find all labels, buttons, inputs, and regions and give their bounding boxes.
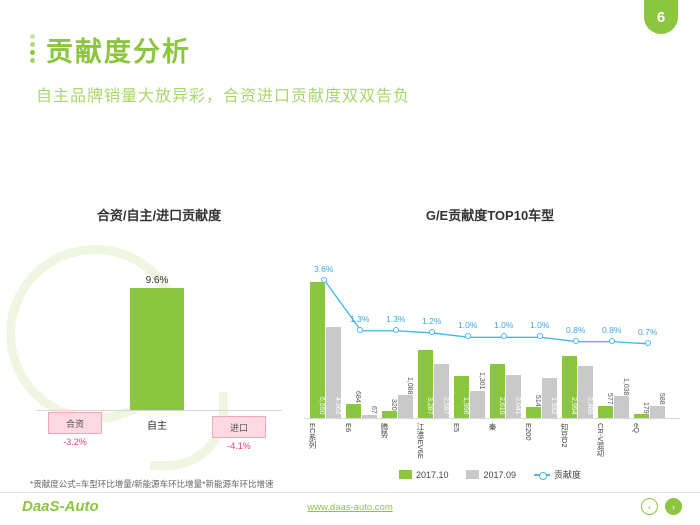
right-chart-title: G/E贡献度TOP10车型 [300,205,680,224]
category-label-5: 秦 [494,423,508,431]
line-label-5: 1.0% [494,320,513,330]
line-label-3: 1.2% [422,316,441,326]
bar-zizhu [130,288,184,410]
legend-label-contribution: 贡献度 [554,468,581,481]
bar-label-2017-09-4: 1,301 [470,372,485,390]
category-label-7: 知豆D2 [566,423,580,448]
bar-label-2017-09-0: 4,362 [326,397,341,415]
bar-label-2017-10-4: 1,996 [454,397,469,415]
bar-label-2017-09-6: 1,932 [542,397,557,415]
legend-swatch-green [399,470,412,479]
bar-label-2017-10-6: 514 [526,395,541,407]
legend-item-2017-10: 2017.10 [399,470,449,480]
bar-hezi-box: 合资 [48,412,102,434]
bar-2017-10-3: 3,287 [418,350,433,418]
bar-label-2017-10-2: 320 [382,399,397,411]
bar-2017-10-9: 179 [634,414,649,418]
footer-divider [0,492,700,493]
bar-2017-09-1: 67 [362,415,377,418]
bar-column-jinkou: 进口 -4.1% [212,416,266,451]
bar-column-zizhu: 9.6% [130,275,184,410]
bar-2017-10-8: 577 [598,406,613,418]
page-number-badge: 6 [644,0,678,34]
line-point-2 [393,327,399,333]
line-label-7: 0.8% [566,325,585,335]
bar-label-2017-09-1: 67 [362,406,377,414]
bar-2017-09-4: 1,301 [470,391,485,418]
chart-legend: 2017.10 2017.09 贡献度 [300,468,680,481]
bar-label-2017-09-5: 2,041 [506,397,521,415]
bar-zizhu-value: 9.6% [130,275,184,286]
line-point-7 [573,338,579,344]
page-subtitle: 自主品牌销量大放异彩，合资进口贡献度双双告负 [36,82,410,106]
page-title: 贡献度分析 [46,30,191,69]
bar-2017-10-4: 1,996 [454,376,469,418]
next-slide-button[interactable]: › [665,498,682,515]
bar-jinkou-box: 进口 [212,416,266,438]
line-point-3 [429,329,435,335]
bar-label-2017-10-5: 2,610 [490,397,505,415]
category-label-8: CR-V混动 [602,423,616,456]
bar-label-2017-09-2: 1,088 [398,377,413,395]
left-axis-line [36,410,282,411]
bar-2017-09-0: 4,362 [326,327,341,418]
bar-label-2017-10-8: 577 [598,393,613,405]
bar-label-2017-10-3: 3,287 [418,397,433,415]
bar-label-2017-09-9: 588 [650,393,665,405]
category-label-3: 江淮iEV6E [422,423,436,459]
page-number: 6 [657,9,665,26]
legend-item-2017-09: 2017.09 [466,470,516,480]
bar-label-2017-09-8: 1,038 [614,378,629,396]
line-label-0: 3.6% [314,264,333,274]
bar-2017-10-2: 320 [382,411,397,418]
line-label-1: 1.3% [350,314,369,324]
bar-2017-10-7: 2,954 [562,356,577,418]
line-point-8 [609,338,615,344]
category-label-6: E200 [530,423,544,441]
bar-2017-09-8: 1,038 [614,396,629,418]
line-label-9: 0.7% [638,327,657,337]
bar-2017-09-5: 2,041 [506,375,521,418]
line-point-9 [645,340,651,346]
bar-label-2017-09-3: 2,597 [434,397,449,415]
footnote: *贡献度公式=车型环比增量/新能源车环比增量*新能源车环比增速 [30,478,273,490]
legend-item-contribution: 贡献度 [534,468,581,481]
bar-2017-10-0: 6,550 [310,282,325,418]
bar-2017-09-2: 1,088 [398,395,413,418]
bar-2017-09-7: 2,489 [578,366,593,418]
bar-2017-10-5: 2,610 [490,364,505,418]
legend-line-swatch [534,474,550,476]
chart-contribution-by-origin: 合资/自主/进口贡献度 合资 -3.2% 9.6% 自主 进口 -4.1% [30,205,288,455]
category-label-1: E6 [350,423,364,432]
line-label-4: 1.0% [458,320,477,330]
bar-group-3: 3,2872,597 [418,238,449,418]
category-label-0: EC系列 [314,423,328,448]
bar-2017-10-1: 684 [346,404,361,418]
line-point-0 [321,277,327,283]
right-chart-plot: 6,5504,362684673201,0883,2872,5971,9961,… [304,239,680,419]
chart-ge-contribution-top10: G/E贡献度TOP10车型 6,5504,362684673201,0883,2… [300,205,680,460]
bar-label-2017-10-9: 179 [634,402,649,414]
bar-2017-09-6: 1,932 [542,378,557,418]
bar-zizhu-label: 自主 [130,417,184,432]
line-label-8: 0.8% [602,325,621,335]
footer-url[interactable]: www.daas-auto.com [0,502,700,513]
bar-2017-09-3: 2,597 [434,364,449,418]
left-chart-title: 合资/自主/进口贡献度 [30,205,288,224]
legend-label-2017-09: 2017.09 [483,470,516,480]
line-point-1 [357,327,363,333]
category-label-9: eQ [638,423,652,433]
slide-navigation[interactable]: ‹ › [641,498,682,515]
line-label-2: 1.3% [386,314,405,324]
bar-label-2017-10-7: 2,954 [562,397,577,415]
line-label-6: 1.0% [530,320,549,330]
left-chart-plot: 合资 -3.2% 9.6% 自主 进口 -4.1% [30,241,288,411]
bar-hezi-value: -3.2% [48,437,102,447]
decorative-dots [30,34,42,68]
category-label-2: 腾势 [386,423,400,438]
prev-slide-button[interactable]: ‹ [641,498,658,515]
bar-column-hezi: 合资 -3.2% [48,412,102,447]
bar-label-2017-09-7: 2,489 [578,397,593,415]
category-label-4: E5 [458,423,472,432]
legend-swatch-gray [466,470,479,479]
legend-label-2017-10: 2017.10 [416,470,449,480]
bar-2017-09-9: 588 [650,406,665,418]
bar-jinkou-value: -4.1% [212,441,266,451]
bar-2017-10-6: 514 [526,407,541,418]
bar-label-2017-10-0: 6,550 [310,397,325,415]
bar-label-2017-10-1: 684 [346,391,361,403]
